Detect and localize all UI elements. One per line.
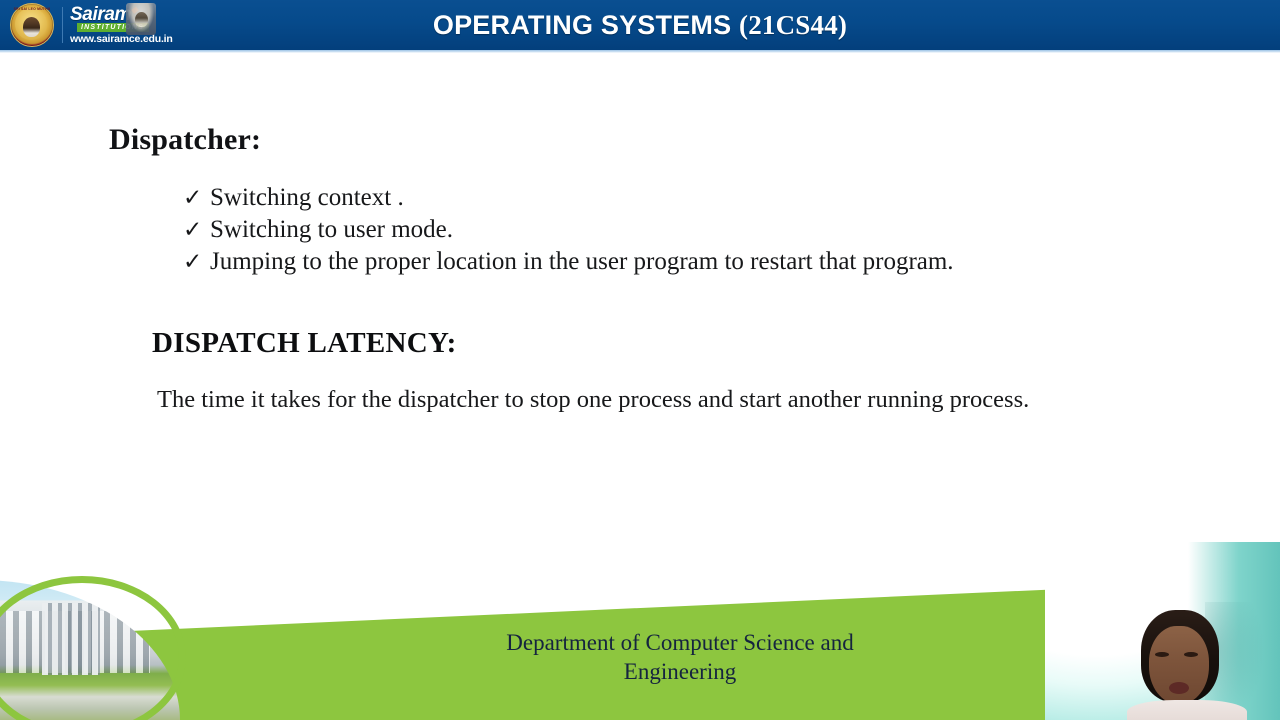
slide-body: Dispatcher: ✓ Switching context . ✓ Swit… (0, 53, 1280, 533)
presenter-eye-right (1184, 652, 1198, 657)
slide-header-bar: SRI SAI LEO MUTHU Sairam◆ INSTITUTIONS w… (0, 0, 1280, 50)
presentation-slide: SRI SAI LEO MUTHU Sairam◆ INSTITUTIONS w… (0, 0, 1280, 720)
list-item-label: Jumping to the proper location in the us… (210, 246, 954, 278)
list-item-label: Switching to user mode. (210, 214, 453, 246)
check-icon: ✓ (183, 214, 210, 246)
course-title: OPERATING SYSTEMS (21CS44) (0, 0, 1280, 50)
list-item: ✓ Switching to user mode. (183, 214, 1183, 246)
bullet-list: ✓ Switching context . ✓ Switching to use… (183, 182, 1183, 278)
presenter-shoulders (1127, 700, 1247, 720)
check-icon: ✓ (183, 182, 210, 214)
department-line-2: Engineering (440, 657, 920, 686)
section-heading-dispatch-latency: DISPATCH LATENCY: (152, 327, 457, 360)
presenter-webcam-overlay[interactable] (1045, 542, 1280, 720)
presenter-mouth (1169, 682, 1189, 694)
presenter-eye-left (1155, 652, 1169, 657)
list-item: ✓ Switching context . (183, 182, 1183, 214)
page-title: Dispatcher: (109, 123, 261, 157)
dispatch-latency-description: The time it takes for the dispatcher to … (157, 386, 1029, 414)
department-line-1: Department of Computer Science and (440, 628, 920, 657)
list-item: ✓ Jumping to the proper location in the … (183, 246, 1183, 278)
department-footer: Department of Computer Science and Engin… (440, 628, 920, 686)
list-item-label: Switching context . (210, 182, 404, 214)
course-code: (21CS44) (739, 10, 847, 40)
check-icon: ✓ (183, 246, 210, 278)
course-title-main: OPERATING SYSTEMS (433, 10, 731, 40)
